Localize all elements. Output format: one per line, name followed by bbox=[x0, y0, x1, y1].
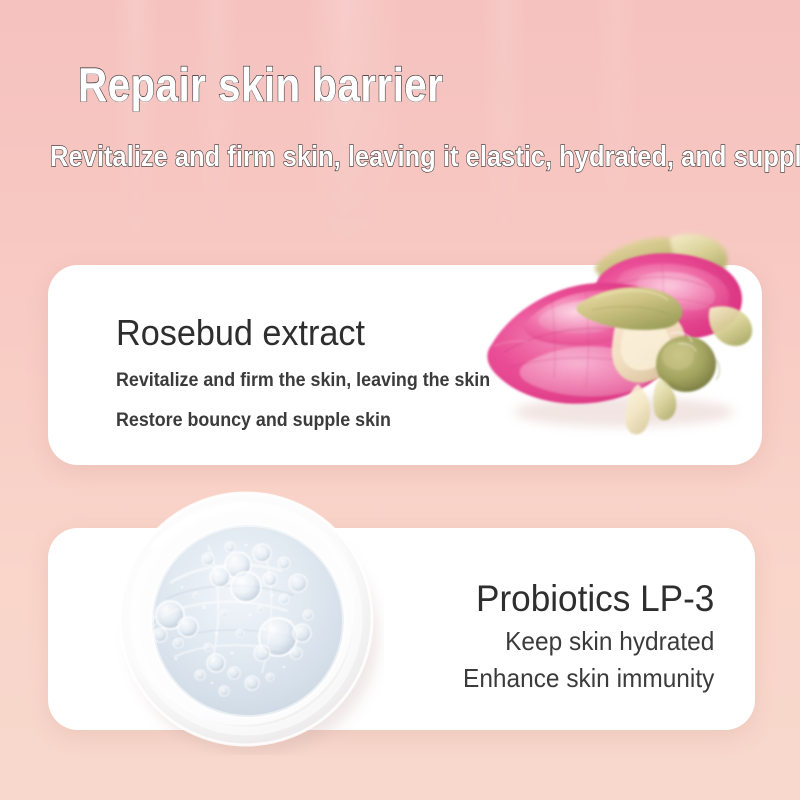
card-probiotics-line-1: Keep skin hydrated bbox=[463, 626, 714, 657]
product-infographic-poster: Repair skin barrier Revitalize and firm … bbox=[0, 0, 800, 800]
page-subtitle: Revitalize and firm skin, leaving it ela… bbox=[50, 141, 800, 174]
card-rosebud-text-block: Rosebud extract Revitalize and firm the … bbox=[116, 312, 514, 432]
card-probiotics-line-2: Enhance skin immunity bbox=[463, 663, 714, 694]
card-rosebud-line-1: Revitalize and firm the skin, leaving th… bbox=[116, 370, 490, 392]
card-rosebud-line-2: Restore bouncy and supple skin bbox=[116, 410, 490, 432]
card-probiotics-title: Probiotics LP-3 bbox=[460, 578, 714, 620]
background-streak-texture bbox=[0, 0, 800, 260]
card-rosebud-title: Rosebud extract bbox=[116, 312, 494, 354]
page-title: Repair skin barrier bbox=[78, 57, 443, 112]
card-probiotics-text-block: Probiotics LP-3 Keep skin hydrated Enhan… bbox=[447, 578, 714, 694]
